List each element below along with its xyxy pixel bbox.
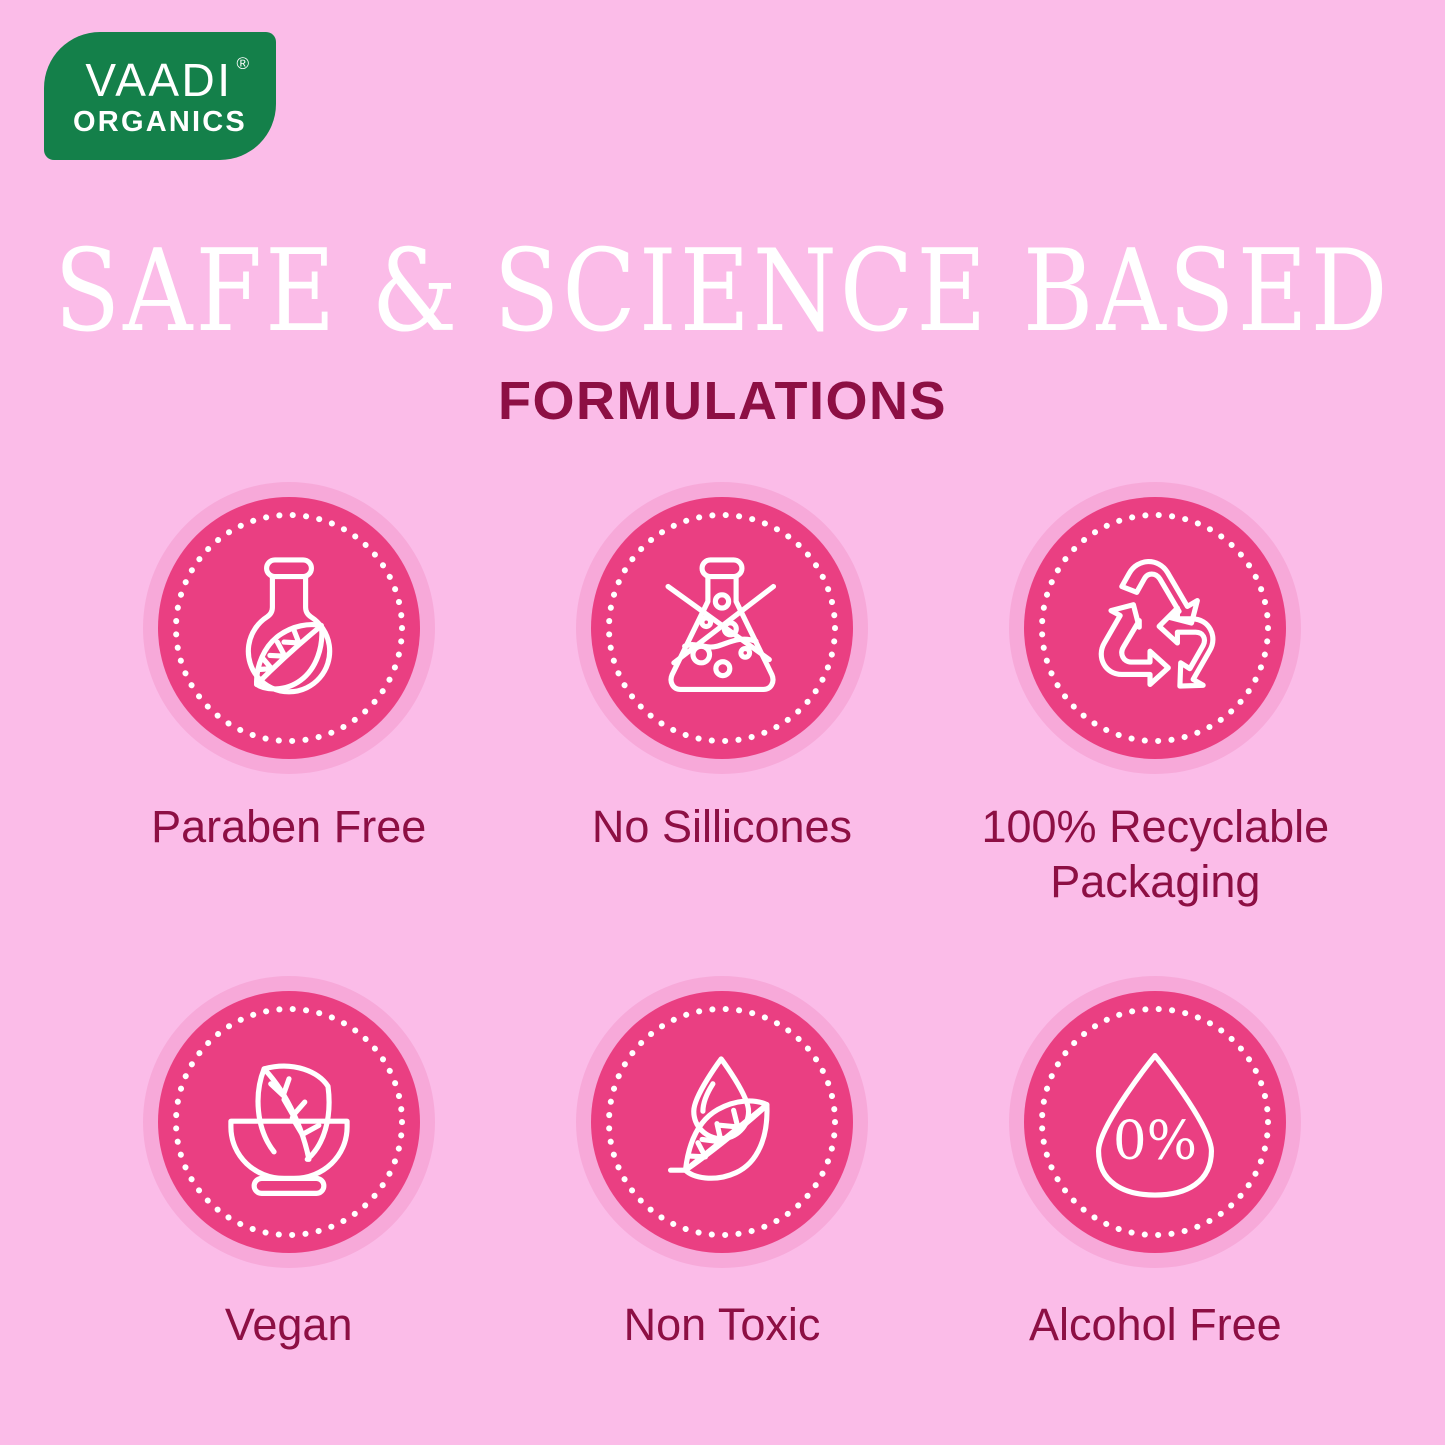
- feature-label: 100% Recyclable Packaging: [965, 800, 1345, 910]
- feature-item-non-toxic: Non Toxic: [505, 976, 938, 1353]
- feature-label: Vegan: [225, 1298, 353, 1353]
- feature-label: Paraben Free: [151, 800, 426, 855]
- icon-halo: [143, 976, 435, 1268]
- bowl-leaf-icon: [206, 1039, 372, 1205]
- icon-disc: [158, 497, 420, 759]
- feature-item-recyclable-packaging: 100% Recyclable Packaging: [939, 482, 1372, 910]
- feature-item-no-sillicones: No Sillicones: [505, 482, 938, 910]
- feature-label: No Sillicones: [592, 800, 852, 855]
- registered-trademark-icon: ®: [237, 55, 252, 72]
- icon-halo: 0%: [1009, 976, 1301, 1268]
- brand-name: VAADI®: [85, 57, 234, 104]
- feature-grid: Paraben Free: [72, 482, 1372, 1353]
- brand-name-text: VAADI: [85, 54, 232, 106]
- brand-tagline: ORGANICS: [73, 106, 247, 139]
- icon-disc: [158, 991, 420, 1253]
- feature-item-alcohol-free: 0% Alcohol Free: [939, 976, 1372, 1353]
- icon-disc: 0%: [1024, 991, 1286, 1253]
- droplet-leaf-icon: [639, 1039, 805, 1205]
- page-subtitle: FORMULATIONS: [0, 372, 1445, 431]
- page-title: SAFE & SCIENCE BASED: [0, 232, 1445, 351]
- droplet-zero-percent-icon: 0%: [1072, 1039, 1238, 1205]
- icon-disc: [591, 991, 853, 1253]
- flask-leaf-icon: [206, 545, 372, 711]
- icon-halo: [1009, 482, 1301, 774]
- brand-logo: VAADI® ORGANICS: [44, 32, 276, 160]
- feature-item-paraben-free: Paraben Free: [72, 482, 505, 910]
- feature-item-vegan: Vegan: [72, 976, 505, 1353]
- recycle-icon: [1072, 545, 1238, 711]
- icon-disc: [591, 497, 853, 759]
- icon-halo: [576, 482, 868, 774]
- feature-label: Alcohol Free: [1029, 1298, 1282, 1353]
- icon-halo: [143, 482, 435, 774]
- feature-label: Non Toxic: [624, 1298, 821, 1353]
- icon-halo: [576, 976, 868, 1268]
- icon-disc: [1024, 497, 1286, 759]
- flask-crossed-icon: [639, 545, 805, 711]
- zero-percent-label: 0%: [1113, 1109, 1197, 1171]
